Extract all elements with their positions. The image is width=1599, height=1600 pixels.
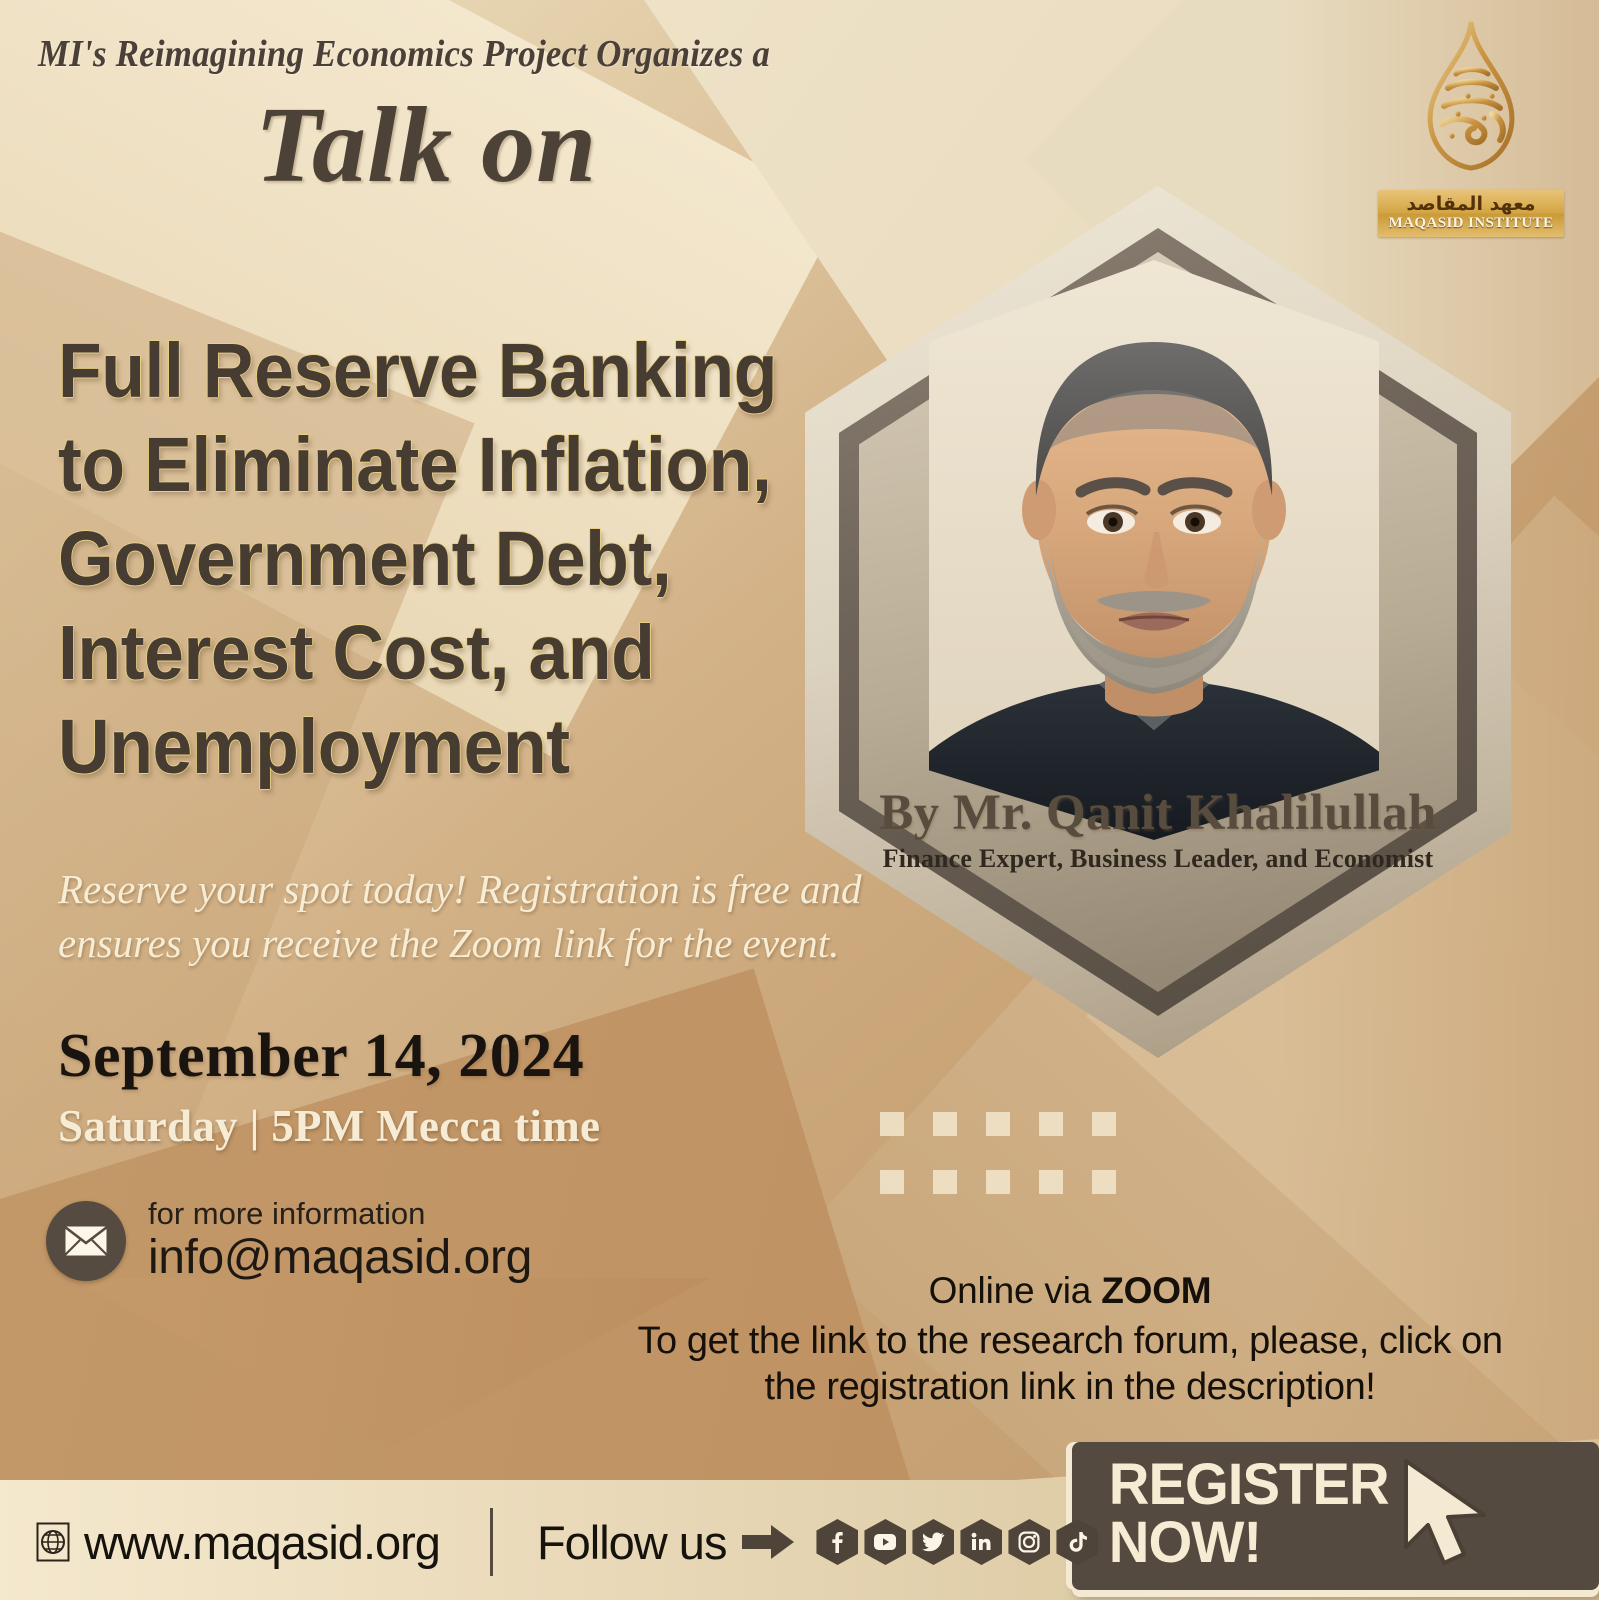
- kicker-text: MI's Reimagining Economics Project Organ…: [38, 32, 770, 76]
- arabic-calligraphy-leaf-icon: [1396, 18, 1546, 188]
- page-title: Talk on: [255, 92, 597, 200]
- arrow-right-icon: [740, 1522, 796, 1562]
- event-poster: MI's Reimagining Economics Project Organ…: [0, 0, 1599, 1600]
- zoom-platform-name: ZOOM: [1101, 1270, 1211, 1311]
- footer-divider: [490, 1508, 493, 1576]
- social-icon-instagram[interactable]: [1008, 1519, 1050, 1565]
- event-date: September 14, 2024: [58, 1025, 584, 1087]
- speaker-name: By Mr. Qanit Khalilullah: [805, 784, 1511, 842]
- social-links: [816, 1519, 1098, 1565]
- social-icon-youtube[interactable]: [864, 1519, 906, 1565]
- zoom-info-block: Online via ZOOM To get the link to the r…: [620, 1270, 1520, 1411]
- website-link[interactable]: www.maqasid.org: [36, 1515, 440, 1570]
- decorative-square-grid: [880, 1112, 1116, 1194]
- follow-us-label: Follow us: [537, 1515, 727, 1570]
- contact-block[interactable]: for more information info@maqasid.org: [46, 1198, 532, 1284]
- speaker-card: By Mr. Qanit Khalilullah Finance Expert,…: [805, 186, 1511, 1058]
- envelope-icon: [46, 1201, 126, 1281]
- zoom-instructions: To get the link to the research forum, p…: [620, 1318, 1520, 1411]
- zoom-platform-line: Online via ZOOM: [620, 1270, 1520, 1312]
- contact-email[interactable]: info@maqasid.org: [148, 1231, 532, 1285]
- social-icon-tiktok[interactable]: [1056, 1519, 1098, 1565]
- talk-title: Full Reserve Banking to Eliminate Inflat…: [58, 325, 793, 795]
- footer: www.maqasid.org Follow us: [0, 1508, 1599, 1576]
- social-icon-facebook[interactable]: [816, 1519, 858, 1565]
- zoom-platform-prefix: Online via: [929, 1270, 1102, 1311]
- registration-blurb: Reserve your spot today! Registration is…: [58, 862, 898, 970]
- speaker-portrait: [929, 260, 1379, 840]
- social-icon-twitter[interactable]: [912, 1519, 954, 1565]
- contact-label: for more information: [148, 1198, 532, 1231]
- speaker-role: Finance Expert, Business Leader, and Eco…: [805, 844, 1511, 874]
- event-day-time: Saturday | 5PM Mecca time: [58, 1104, 600, 1149]
- social-icon-linkedin[interactable]: [960, 1519, 1002, 1565]
- website-url: www.maqasid.org: [84, 1515, 440, 1570]
- globe-icon: [36, 1522, 70, 1562]
